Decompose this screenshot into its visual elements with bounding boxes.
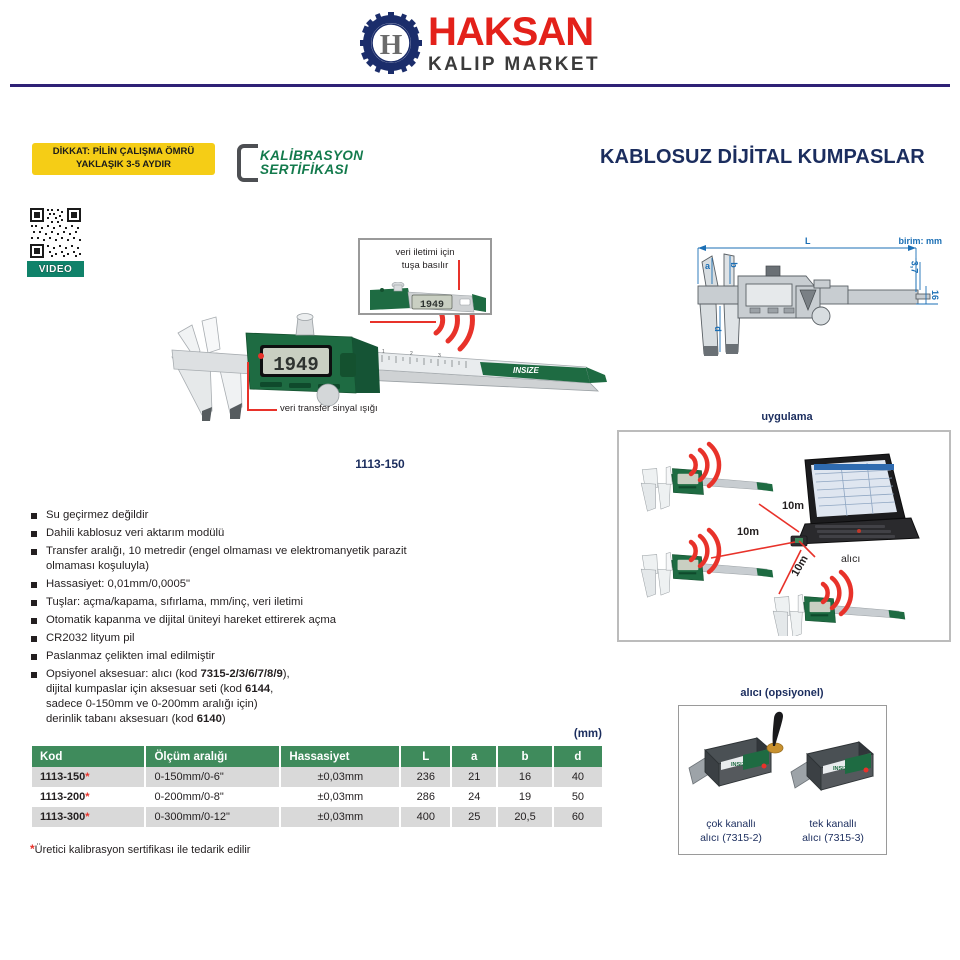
col-hassasiyet: Hassasiyet xyxy=(280,746,400,767)
list-item: CR2032 lityum pil xyxy=(30,631,450,646)
cell-kod: 1113-200* xyxy=(32,787,145,807)
svg-text:1949: 1949 xyxy=(420,300,444,311)
receiver-illustration: INSIZE INSIZE xyxy=(679,706,884,818)
distance-lines xyxy=(711,504,815,594)
cell-d: 40 xyxy=(553,767,602,787)
svg-text:1: 1 xyxy=(382,349,385,355)
calibration-line-2: SERTİFİKASI xyxy=(260,163,363,177)
list-item: Transfer aralığı, 10 metredir (engel olm… xyxy=(30,544,450,574)
bracket-icon xyxy=(237,144,258,182)
col-kod: Kod xyxy=(32,746,145,767)
multi-channel-caption: çok kanallı alıcı (7315-2) xyxy=(681,818,781,845)
gear-logo-icon: H xyxy=(360,12,422,74)
receiver-photo-box: INSIZE INSIZE çok kanallı alıcı (7315-2) xyxy=(678,705,887,855)
cell-b: 19 xyxy=(497,787,553,807)
callout-line-1: veri iletimi için xyxy=(360,247,490,260)
cell-a: 24 xyxy=(451,787,497,807)
accessory-text-7: ) xyxy=(222,713,226,725)
accessory-text-4: , xyxy=(270,683,273,695)
col-olcum-araligi: Ölçüm aralığı xyxy=(145,746,280,767)
dim-label-3-7: 3,7 xyxy=(909,261,919,274)
qr-video-label: VIDEO xyxy=(27,261,84,277)
cell-aralik: 0-300mm/0-12" xyxy=(145,807,280,827)
catalog-page: H HAKSAN KALIP MARKET DİKKAT: PİLİN ÇALI… xyxy=(0,0,960,960)
dim-label-d: d xyxy=(713,326,723,332)
qr-code-icon xyxy=(27,205,84,261)
table-row: 1113-300* 0-300mm/0-12" ±0,03mm 400 25 2… xyxy=(32,807,602,827)
cell-aralik: 0-200mm/0-8" xyxy=(145,787,280,807)
table-row: 1113-150* 0-150mm/0-6" ±0,03mm 236 21 16… xyxy=(32,767,602,787)
logo-main-text: HAKSAN xyxy=(428,12,600,52)
application-caption: uygulama xyxy=(617,411,957,423)
col-L: L xyxy=(400,746,451,767)
list-item: Hassasiyet: 0,01mm/0,0005" xyxy=(30,577,450,592)
list-item: Otomatik kapanma ve dijital üniteyi hare… xyxy=(30,613,450,628)
accessory-text-1: Opsiyonel aksesuar: alıcı (kod xyxy=(46,668,200,680)
application-diagram-box: 10m 10m 10m alıcı xyxy=(617,430,951,642)
video-qr-code[interactable]: VIDEO xyxy=(27,205,84,277)
accessory-code-2: 6144 xyxy=(245,683,270,695)
svg-text:2: 2 xyxy=(410,351,413,357)
callout-line-2: tuşa basılır xyxy=(360,260,490,273)
kod-value: 1113-200 xyxy=(40,791,85,803)
distance-label-1: 10m xyxy=(782,500,804,512)
accessory-code-3: 6140 xyxy=(197,713,222,725)
signal-light-note: veri transfer sinyal ışığı xyxy=(280,403,378,414)
cell-L: 286 xyxy=(400,787,451,807)
single-channel-line-1: tek kanallı xyxy=(783,818,883,832)
feature-text: Paslanmaz çelikten imal edilmiştir xyxy=(46,650,215,662)
receiver-label: alıcı xyxy=(841,553,860,565)
dim-label-b: b xyxy=(729,262,739,268)
callout-text: veri iletimi için tuşa basılır xyxy=(360,247,490,273)
multi-channel-line-2: alıcı (7315-2) xyxy=(681,832,781,846)
feature-text: Transfer aralığı, 10 metredir (engel olm… xyxy=(46,545,407,572)
battery-warning-badge: DİKKAT: PİLİN ÇALIŞMA ÖMRÜ YAKLAŞIK 3-5 … xyxy=(32,143,215,175)
list-item: Su geçirmez değildir xyxy=(30,508,450,523)
single-channel-receiver: INSIZE xyxy=(791,742,873,790)
cell-b: 16 xyxy=(497,767,553,787)
asterisk-marker: * xyxy=(85,771,89,783)
table-unit-label: (mm) xyxy=(32,728,602,740)
col-a: a xyxy=(451,746,497,767)
callout-pointer-line xyxy=(458,260,460,290)
cell-aralik: 0-150mm/0-6" xyxy=(145,767,280,787)
caliper-dimension-drawing xyxy=(620,228,950,373)
svg-text:INSIZE: INSIZE xyxy=(731,762,749,768)
cell-b: 20,5 xyxy=(497,807,553,827)
kod-value: 1113-300 xyxy=(40,811,85,823)
svg-text:INSIZE: INSIZE xyxy=(833,766,851,772)
feature-text: Tuşlar: açma/kapama, sıfırlama, mm/inç, … xyxy=(46,596,303,608)
feature-text: Su geçirmez değildir xyxy=(46,509,148,521)
dim-label-a: a xyxy=(705,261,710,271)
cell-kod: 1113-150* xyxy=(32,767,145,787)
list-item: Tuşlar: açma/kapama, sıfırlama, mm/inç, … xyxy=(30,595,450,610)
callout-leader-line xyxy=(370,321,436,323)
feature-text: Dahili kablosuz veri aktarım modülü xyxy=(46,527,224,539)
page-header: H HAKSAN KALIP MARKET xyxy=(0,0,960,92)
calibration-line-1: KALİBRASYON xyxy=(260,149,363,163)
footnote-text: Üretici kalibrasyon sertifikası ile teda… xyxy=(35,844,251,856)
list-item: Paslanmaz çelikten imal edilmiştir xyxy=(30,649,450,664)
table-row: 1113-200* 0-200mm/0-8" ±0,03mm 286 24 19… xyxy=(32,787,602,807)
warning-line-2: YAKLAŞIK 3-5 AYDIR xyxy=(76,159,171,172)
feature-text: CR2032 lityum pil xyxy=(46,632,135,644)
features-list: Su geçirmez değildir Dahili kablosuz ver… xyxy=(30,508,450,730)
cell-d: 60 xyxy=(553,807,602,827)
cell-L: 400 xyxy=(400,807,451,827)
cell-d: 50 xyxy=(553,787,602,807)
svg-text:INSIZE: INSIZE xyxy=(513,366,539,375)
cell-hassasiyet: ±0,03mm xyxy=(280,767,400,787)
calibration-certificate-logo: KALİBRASYON SERTİFİKASI xyxy=(237,146,365,180)
receiver-caption-plain: alıcı xyxy=(740,687,764,699)
col-d: d xyxy=(553,746,602,767)
feature-text: Otomatik kapanma ve dijital üniteyi hare… xyxy=(46,614,336,626)
multi-channel-receiver: INSIZE xyxy=(689,712,783,786)
cell-hassasiyet: ±0,03mm xyxy=(280,787,400,807)
dim-label-L: L xyxy=(805,236,811,246)
haksan-logo: H HAKSAN KALIP MARKET xyxy=(360,12,600,74)
logo-letter: H xyxy=(380,29,403,61)
asterisk-marker: * xyxy=(85,791,89,803)
cell-kod: 1113-300* xyxy=(32,807,145,827)
kod-value: 1113-150 xyxy=(40,771,85,783)
spec-table-wrap: (mm) Kod Ölçüm aralığı Hassasiyet L a b … xyxy=(32,728,602,827)
accessory-code-1: 7315-2/3/6/7/8/9 xyxy=(200,668,282,680)
callout-inset-box: veri iletimi için tuşa basılır 1949 xyxy=(358,238,492,315)
page-title: KABLOSUZ DİJİTAL KUMPASLAR xyxy=(600,146,925,169)
col-b: b xyxy=(497,746,553,767)
technical-drawing: birim: mm L a b d 3,7 16 xyxy=(620,228,950,373)
single-channel-line-2: alıcı (7315-3) xyxy=(783,832,883,846)
receiver-caption-bold: (opsiyonel) xyxy=(765,687,824,699)
cell-a: 21 xyxy=(451,767,497,787)
dim-label-16: 16 xyxy=(930,290,940,300)
feature-text: Hassasiyet: 0,01mm/0,0005" xyxy=(46,578,190,590)
header-divider xyxy=(10,84,950,87)
multi-channel-line-1: çok kanallı xyxy=(681,818,781,832)
svg-text:3: 3 xyxy=(438,353,441,359)
cell-a: 25 xyxy=(451,807,497,827)
asterisk-marker: * xyxy=(85,811,89,823)
single-channel-caption: tek kanallı alıcı (7315-3) xyxy=(783,818,883,845)
accessory-text-2: ), xyxy=(283,668,290,680)
accessory-text-6: derinlik tabanı aksesuarı (kod xyxy=(46,713,197,725)
accessory-text-3: dijital kumpaslar için aksesuar seti (ko… xyxy=(46,683,245,695)
receiver-caption: alıcı (opsiyonel) xyxy=(612,687,952,699)
accessory-text-5: sadece 0-150mm ve 0-200mm aralığı için) xyxy=(46,698,258,710)
table-footnote: *Üretici kalibrasyon sertifikası ile ted… xyxy=(30,842,250,856)
list-item-accessories: Opsiyonel aksesuar: alıcı (kod 7315-2/3/… xyxy=(30,667,450,727)
cell-L: 236 xyxy=(400,767,451,787)
signal-note-horizontal-line xyxy=(247,409,277,411)
list-item: Dahili kablosuz veri aktarım modülü xyxy=(30,526,450,541)
spec-table: Kod Ölçüm aralığı Hassasiyet L a b d 111… xyxy=(32,746,602,827)
lcd-reading: 1949 xyxy=(273,354,319,376)
drawing-unit-note: birim: mm xyxy=(898,236,942,246)
product-photo: 1 2 3 INSIZE 1949 xyxy=(150,225,610,435)
logo-sub-text: KALIP MARKET xyxy=(428,55,600,74)
cell-hassasiyet: ±0,03mm xyxy=(280,807,400,827)
signal-note-vertical-line xyxy=(247,362,249,410)
inset-caliper-illustration: 1949 xyxy=(368,282,488,315)
table-header-row: Kod Ölçüm aralığı Hassasiyet L a b d xyxy=(32,746,602,767)
product-code-label: 1113-150 xyxy=(150,457,610,471)
laptop-illustration xyxy=(797,454,919,544)
distance-label-2: 10m xyxy=(737,526,759,538)
application-diagram xyxy=(619,432,945,636)
warning-line-1: DİKKAT: PİLİN ÇALIŞMA ÖMRÜ xyxy=(53,146,194,159)
